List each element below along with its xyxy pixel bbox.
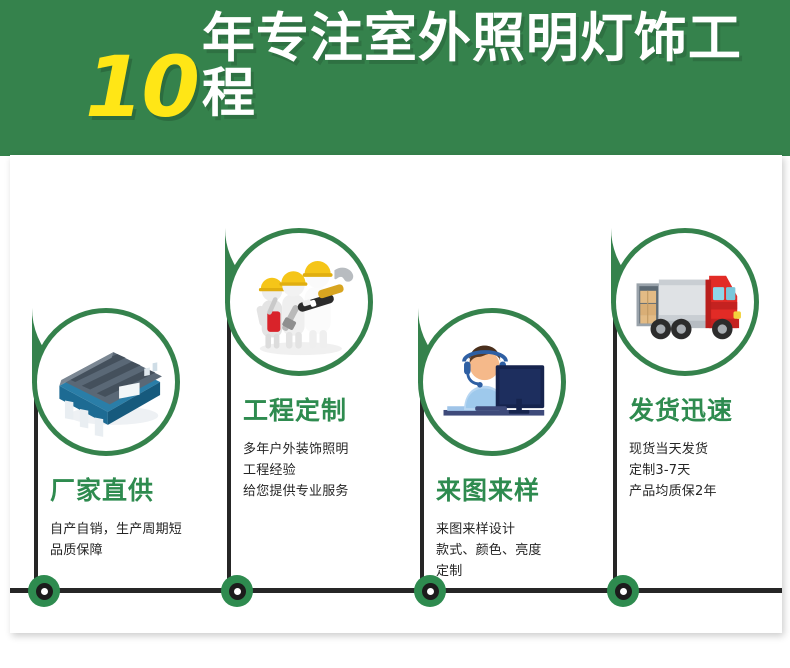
icon-circle-factory <box>32 308 180 456</box>
feature-title: 工程定制 <box>243 395 415 426</box>
icon-circle-workers <box>225 228 373 376</box>
timeline-node-1 <box>28 575 60 607</box>
timeline-node-2 <box>221 575 253 607</box>
feature-title: 来图来样 <box>436 475 608 506</box>
workers-icon <box>230 233 368 371</box>
promo-banner-page: 10 年专注室外照明灯饰工程 <box>0 0 790 668</box>
feature-text-engineering: 工程定制 多年户外装饰照明 工程经验 给您提供专业服务 <box>243 395 415 502</box>
feature-description: 来图来样设计 款式、颜色、亮度 定制 <box>436 519 608 582</box>
feature-columns: 厂家直供 自产自销，生产周期短 品质保障 <box>10 155 782 633</box>
feature-text-shipping: 发货迅速 现货当天发货 定制3-7天 产品均质保2年 <box>629 395 790 502</box>
feature-description: 自产自销，生产周期短 品质保障 <box>50 519 222 561</box>
feature-title: 发货迅速 <box>629 395 790 426</box>
feature-column-shipping: 发货迅速 现货当天发货 定制3-7天 产品均质保2年 <box>589 155 782 633</box>
timeline-node-3 <box>414 575 446 607</box>
connector-line <box>613 293 617 589</box>
feature-description: 多年户外装饰照明 工程经验 给您提供专业服务 <box>243 439 415 502</box>
feature-text-custom-design: 来图来样 来图来样设计 款式、颜色、亮度 定制 <box>436 475 608 582</box>
timeline-bar <box>10 588 782 593</box>
icon-circle-customer-service <box>418 308 566 456</box>
headline-group: 10 年专注室外照明灯饰工程 <box>85 26 790 126</box>
header-banner: 10 年专注室外照明灯饰工程 <box>0 0 790 156</box>
years-number: 10 <box>85 49 198 126</box>
factory-icon <box>37 313 175 451</box>
connector-line <box>227 293 231 589</box>
customer-service-icon <box>423 313 561 451</box>
delivery-truck-icon <box>616 233 754 371</box>
timeline-node-4 <box>607 575 639 607</box>
icon-circle-truck <box>611 228 759 376</box>
feature-column-custom-design: 来图来样 来图来样设计 款式、颜色、亮度 定制 <box>396 155 589 633</box>
feature-title: 厂家直供 <box>50 475 222 506</box>
feature-text-factory: 厂家直供 自产自销，生产周期短 品质保障 <box>50 475 222 561</box>
feature-column-engineering: 工程定制 多年户外装饰照明 工程经验 给您提供专业服务 <box>203 155 396 633</box>
feature-description: 现货当天发货 定制3-7天 产品均质保2年 <box>629 439 790 502</box>
headline-title: 年专注室外照明灯饰工程 <box>202 11 790 126</box>
feature-column-factory: 厂家直供 自产自销，生产周期短 品质保障 <box>10 155 203 633</box>
